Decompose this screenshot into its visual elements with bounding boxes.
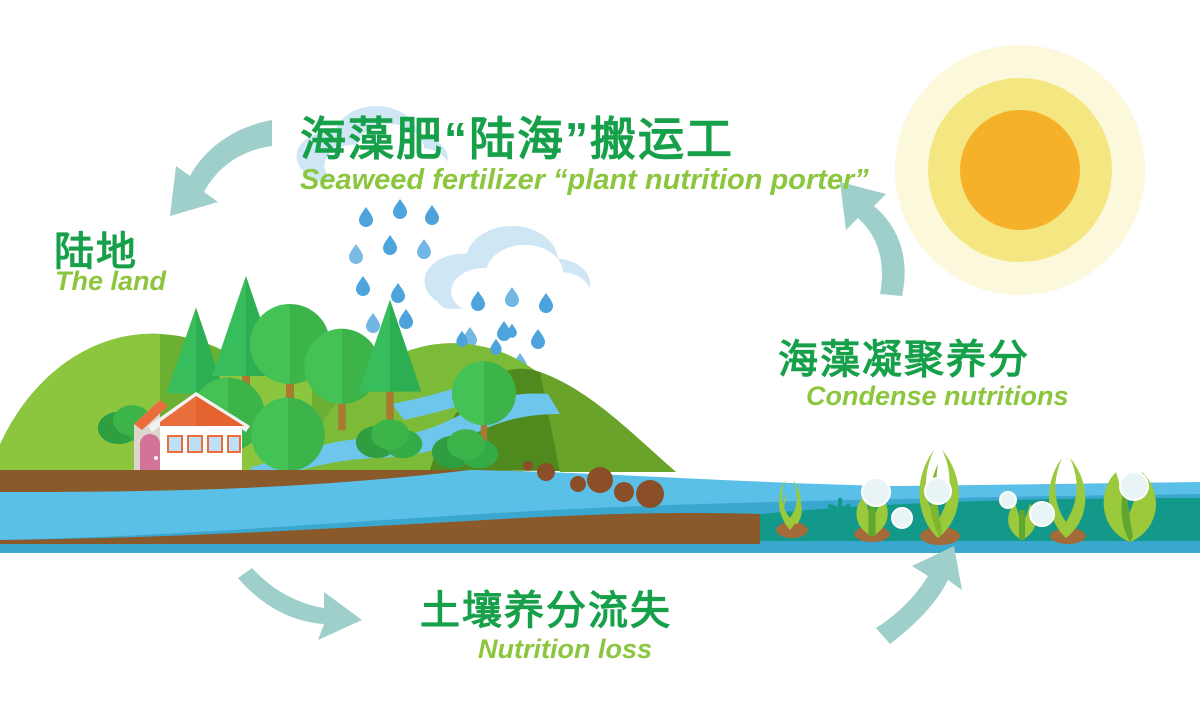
arrow-sun-to-seaweed xyxy=(840,182,905,296)
page-title-en: Seaweed fertilizer “plant nutrition port… xyxy=(300,164,869,197)
label-nutrition-loss-en: Nutrition loss xyxy=(478,634,652,665)
diagram-canvas: 海藻肥“陆海”搬运工 Seaweed fertilizer “plant nut… xyxy=(0,0,1200,721)
label-nutrition-loss-cn: 土壤养分流失 xyxy=(420,578,672,636)
sun-icon xyxy=(895,45,1145,295)
label-condense-en: Condense nutritions xyxy=(806,381,1069,412)
label-condense-cn: 海藻凝聚养分 xyxy=(778,327,1030,385)
arrow-rain-to-land xyxy=(170,120,272,216)
page-title-cn: 海藻肥“陆海”搬运工 xyxy=(300,103,734,169)
arrow-land-to-water xyxy=(238,568,362,640)
arrow-water-to-sea xyxy=(876,546,962,644)
label-land-en: The land xyxy=(55,266,166,297)
